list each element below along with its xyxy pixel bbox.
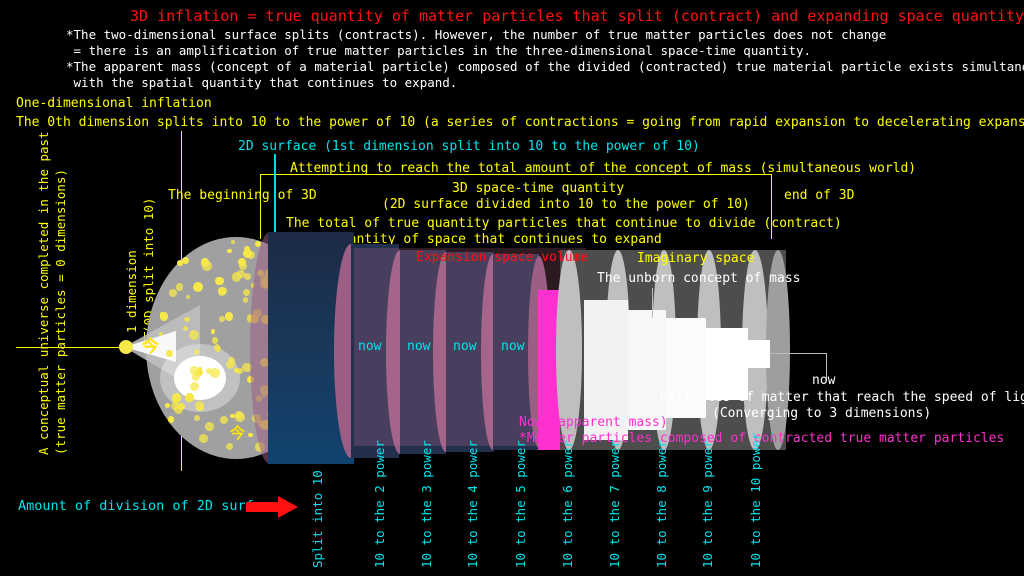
- particle-dot: [248, 433, 252, 437]
- red-arrow-icon: [246, 494, 306, 520]
- particle-dot: [189, 330, 199, 340]
- axis-label-3: 10 to the 4 power: [465, 440, 481, 568]
- particle-dot: [194, 349, 200, 355]
- particle-dot: [227, 249, 232, 254]
- particle-dot: [172, 393, 181, 402]
- now-label-3: now: [453, 339, 476, 355]
- particle-dot: [168, 416, 174, 422]
- converging-step-2: [628, 310, 666, 430]
- imaginary-space-label: Imaginary space: [637, 251, 754, 267]
- axis-label-8: 10 to the 9 power: [700, 440, 716, 568]
- axis-label-6: 10 to the 7 power: [607, 440, 623, 568]
- particle-dot: [165, 403, 170, 408]
- particle-dot: [205, 422, 214, 431]
- particle-dot: [185, 393, 193, 401]
- particle-dot: [218, 287, 226, 295]
- unborn-concept-label: The unborn concept of mass: [597, 271, 801, 287]
- amount-of-division-label: Amount of division of 2D surface: [18, 498, 278, 515]
- particle-dot: [206, 368, 212, 374]
- particle-dot: [237, 270, 245, 278]
- particle-dot: [194, 415, 200, 421]
- particle-dot: [237, 368, 243, 374]
- expansion-space-volume-label: Expansion space volume: [416, 250, 588, 266]
- inflation-scene: 今 今: [0, 0, 1024, 576]
- particle-dot: [247, 251, 255, 259]
- particle-dot: [215, 277, 224, 286]
- particle-dot: [219, 316, 225, 322]
- axis-label-4: 10 to the 5 power: [513, 440, 529, 568]
- particle-dot: [202, 261, 212, 271]
- particle-dot: [160, 312, 169, 321]
- particle-dot: [230, 414, 234, 418]
- particle-dot: [225, 312, 233, 320]
- particle-dot: [215, 346, 221, 352]
- particle-dot: [226, 360, 235, 369]
- particle-dot: [212, 337, 219, 344]
- now-apparent-mass-label: Now (apparent mass): [519, 415, 668, 431]
- converging-step-5: [748, 340, 770, 368]
- pointer-line-now-right-horizontal: [770, 353, 826, 354]
- particle-dot: [239, 262, 247, 270]
- particle-dot: [193, 282, 203, 292]
- particle-dot: [226, 443, 233, 450]
- axis-label-5: 10 to the 6 power: [560, 440, 576, 568]
- particle-dot: [166, 350, 173, 357]
- particle-dot: [177, 260, 183, 266]
- axis-label-9: 10 to the 10 power: [748, 433, 764, 568]
- now-label-2: now: [407, 339, 430, 355]
- speed-of-light-line2: (Converging to 3 dimensions): [712, 406, 931, 422]
- axis-label-1: 10 to the 2 power: [372, 440, 388, 568]
- now-label-1: now: [358, 339, 381, 355]
- axis-label-2: 10 to the 3 power: [419, 440, 435, 568]
- now-glyph-bulb: 今: [230, 422, 245, 443]
- now-right-label: now: [812, 373, 835, 389]
- particle-dot: [243, 289, 250, 296]
- now-glyph-tip: 今: [142, 332, 159, 357]
- diagram-canvas: 3D inflation = true quantity of matter p…: [0, 0, 1024, 576]
- now-label-4: now: [501, 339, 524, 355]
- axis-label-7: 10 to the 8 power: [654, 440, 670, 568]
- speed-of-light-line1: Particles of matter that reach the speed…: [660, 390, 1024, 406]
- particle-dot: [195, 401, 205, 411]
- axis-label-0: Split into 10: [310, 470, 326, 568]
- particle-dot: [184, 317, 189, 322]
- pointer-line-unborn-concept: [652, 288, 653, 318]
